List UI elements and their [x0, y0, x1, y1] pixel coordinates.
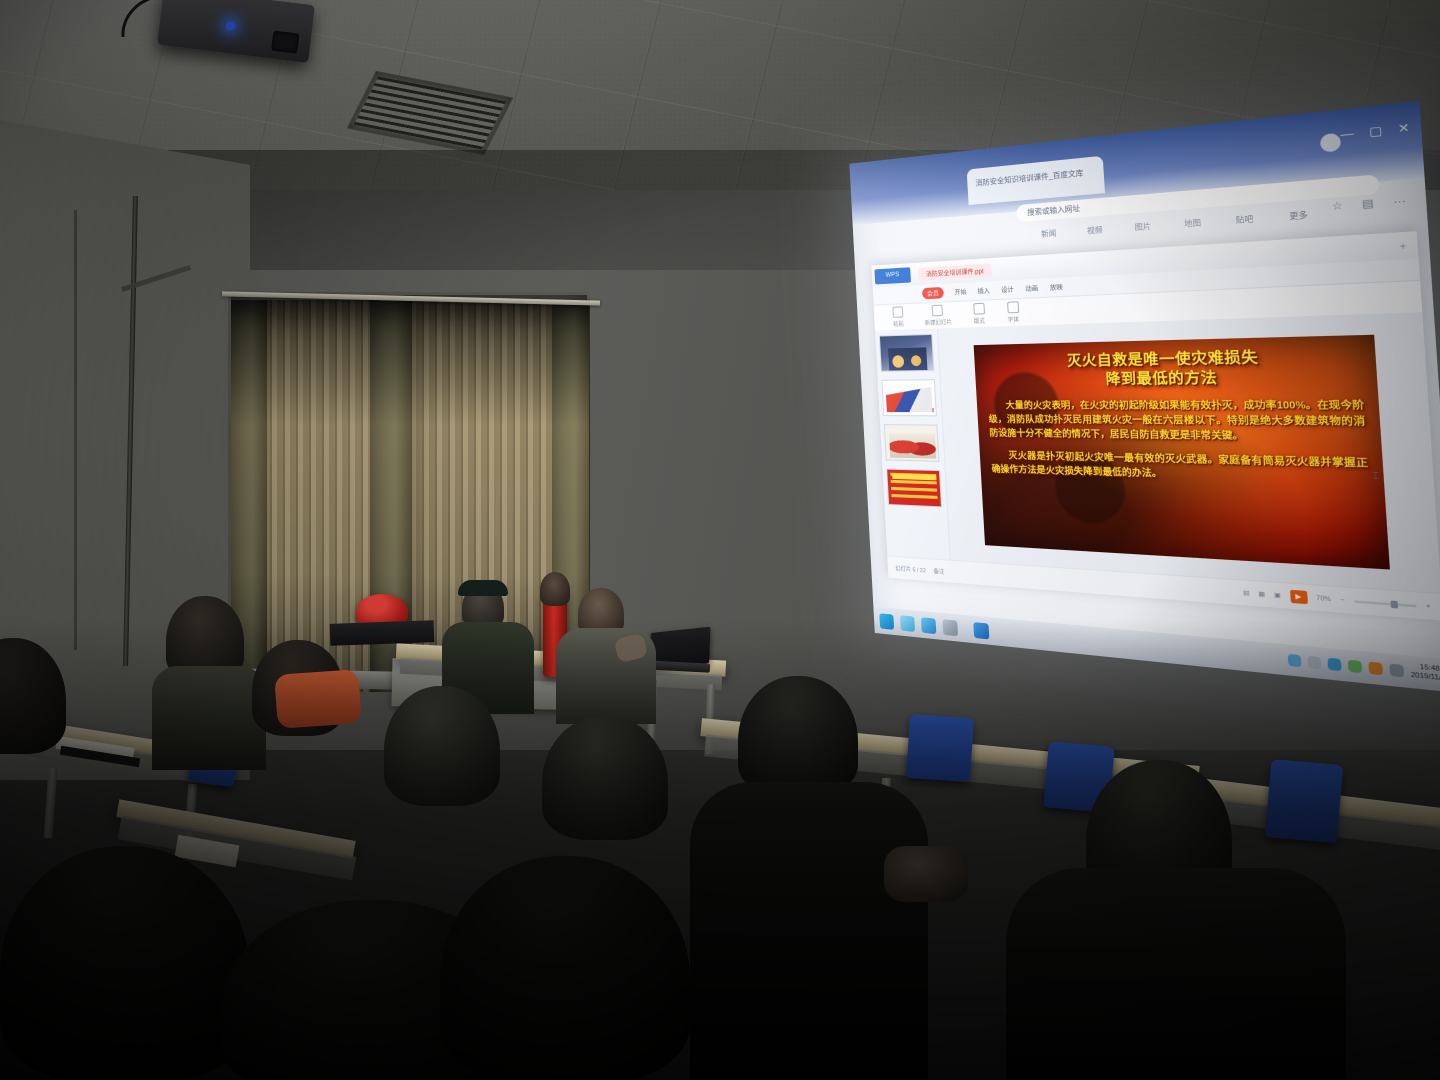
audience-member — [0, 846, 250, 1080]
font-icon — [1007, 301, 1019, 313]
network-icon[interactable] — [1327, 658, 1341, 672]
layout-icon — [973, 303, 985, 315]
nav-link-images[interactable]: 图片 — [1134, 221, 1151, 233]
ribbon-member-badge[interactable]: 会员 — [922, 287, 944, 299]
current-slide[interactable]: 灭火自救是唯一使灾难损失 降到最低的方法 大量的火灾表明，在火灾的初起阶级如果能… — [973, 334, 1390, 570]
nav-link-news[interactable]: 新闻 — [1041, 228, 1057, 240]
zoom-out-button[interactable]: − — [1340, 596, 1345, 604]
browser-tab[interactable]: 消防安全知识培训课件_百度文库 — [967, 156, 1105, 205]
audience-member — [440, 856, 690, 1080]
notes-button[interactable]: 备注 — [933, 566, 944, 575]
attendee-head — [540, 572, 570, 606]
wps-logo-icon: WPS — [874, 267, 911, 284]
browser-icon[interactable] — [879, 613, 894, 630]
tool-layout-label: 版式 — [974, 316, 986, 325]
notification-icon[interactable] — [1389, 664, 1404, 678]
volume-icon[interactable] — [1347, 660, 1362, 674]
front-dark-table — [330, 620, 435, 646]
tool-new-slide[interactable]: 新建幻灯片 — [924, 304, 952, 327]
slide-thumbnail[interactable]: 2 — [881, 379, 936, 416]
audience-member — [384, 686, 500, 806]
officer-cap — [458, 580, 508, 596]
new-slide-icon — [932, 305, 943, 317]
tool-layout[interactable]: 版式 — [973, 303, 985, 325]
shield-icon[interactable] — [1307, 656, 1321, 669]
view-reading-icon[interactable]: ▣ — [1274, 592, 1281, 600]
ime-icon[interactable] — [1368, 662, 1383, 676]
paste-icon — [892, 306, 903, 318]
audience-body — [152, 666, 266, 770]
wps-document-tab[interactable]: 消防安全培训课件.ppt — [918, 263, 992, 281]
slide-stage: 灭火自救是唯一使灾难损失 降到最低的方法 大量的火灾表明，在火灾的初起阶级如果能… — [938, 313, 1440, 592]
onedrive-icon[interactable] — [1288, 654, 1302, 667]
star-icon[interactable]: ☆ — [1331, 199, 1343, 213]
chair — [1265, 759, 1344, 843]
window-controls[interactable]: — ▢ ✕ — [1340, 122, 1410, 142]
projector-power-led-icon — [225, 21, 235, 31]
maximize-icon[interactable]: ▢ — [1369, 125, 1383, 140]
projected-desktop: 消防安全知识培训课件_百度文库 — ▢ ✕ 搜索或输入网址 新闻 视频 图片 地… — [849, 101, 1440, 693]
wall-seam — [74, 210, 77, 650]
slide-thumbnail[interactable]: 4 — [886, 469, 942, 508]
view-normal-icon[interactable]: ▤ — [1243, 589, 1250, 597]
nav-link-video[interactable]: 视频 — [1087, 224, 1103, 236]
nav-link-more[interactable]: 更多 — [1289, 209, 1308, 222]
nav-link-map[interactable]: 地图 — [1184, 217, 1202, 230]
minimize-icon[interactable]: — — [1340, 128, 1355, 143]
audience-member — [542, 716, 668, 840]
slide-counter: 幻灯片 5 / 22 — [895, 564, 926, 574]
media-icon[interactable] — [942, 619, 958, 636]
projection-screen: 消防安全知识培训课件_百度文库 — ▢ ✕ 搜索或输入网址 新闻 视频 图片 地… — [849, 101, 1440, 693]
slide-thumbnail[interactable]: 3 — [884, 424, 940, 462]
zoom-slider[interactable] — [1354, 600, 1416, 607]
tool-paste[interactable]: 粘贴 — [892, 306, 904, 328]
qq-icon[interactable] — [921, 617, 936, 634]
ribbon-tab-start[interactable]: 开始 — [954, 287, 967, 297]
slide-thumbnail[interactable]: 1 — [879, 334, 934, 372]
wps-office-window: WPS 消防安全培训课件.ppt + 会员 开始 插入 设计 动画 放映 粘贴 — [871, 231, 1440, 621]
ribbon-tab-insert[interactable]: 插入 — [977, 286, 990, 296]
ribbon-tab-animation[interactable]: 动画 — [1025, 283, 1038, 293]
wps-icon[interactable] — [973, 622, 989, 639]
clock-date: 2019/11/25 — [1411, 672, 1440, 685]
tool-new-slide-label: 新建幻灯片 — [925, 318, 952, 327]
explorer-icon[interactable] — [900, 615, 915, 632]
taskbar-clock[interactable]: 15:48 2019/11/25 — [1410, 663, 1440, 684]
audience-member — [738, 676, 858, 796]
start-slideshow-button[interactable]: ▶ — [1289, 590, 1307, 604]
browser-toolbar-icons[interactable]: ☆ ▤ ⋯ — [1331, 194, 1406, 213]
classroom-photo-scene: 消防安全知识培训课件_百度文库 — ▢ ✕ 搜索或输入网址 新闻 视频 图片 地… — [0, 0, 1440, 1080]
slide-paragraph-2: 灭火器是扑灭初起火灾唯一最有效的灭火武器。家庭备有简易灭火器并掌握正确操作方法是… — [990, 448, 1369, 487]
audience-body — [690, 782, 928, 1080]
slide-paragraph-1: 大量的火灾表明，在火灾的初起阶级如果能有效扑灭，成功率100%。在现今阶级，消防… — [988, 398, 1367, 446]
audience-body — [1006, 868, 1346, 1080]
tool-font-label: 字体 — [1007, 315, 1019, 324]
wps-new-tab-button[interactable]: + — [1399, 240, 1406, 252]
collections-icon[interactable]: ▤ — [1362, 197, 1375, 211]
status-right-group[interactable]: ▤ ▦ ▣ ▶ 70% − + — [1243, 586, 1432, 613]
settings-icon[interactable]: ⋯ — [1393, 194, 1407, 209]
chair — [906, 714, 974, 782]
projector-lens-icon — [271, 31, 299, 54]
tool-paste-label: 粘贴 — [893, 320, 904, 328]
audience-hands — [884, 846, 968, 902]
slide-title: 灭火自救是唯一使灾难损失 降到最低的方法 — [985, 344, 1363, 389]
view-sorter-icon[interactable]: ▦ — [1258, 590, 1265, 598]
ribbon-tab-design[interactable]: 设计 — [1001, 284, 1014, 294]
browser-profile-icon[interactable] — [1320, 133, 1341, 153]
zoom-level-label: 70% — [1316, 595, 1331, 603]
zoom-in-button[interactable]: + — [1426, 602, 1431, 610]
slide-body: 大量的火灾表明，在火灾的初起阶级如果能有效扑灭，成功率100%。在现今阶级，消防… — [988, 398, 1371, 495]
audience-orange-jacket — [274, 669, 362, 729]
close-icon[interactable]: ✕ — [1397, 122, 1410, 137]
nav-link-tieba[interactable]: 贴吧 — [1235, 213, 1253, 226]
browser-tab-title: 消防安全知识培训课件_百度文库 — [975, 167, 1095, 189]
address-bar-placeholder: 搜索或输入网址 — [1027, 203, 1081, 218]
tool-font[interactable]: 字体 — [1007, 301, 1020, 324]
ribbon-tab-slideshow[interactable]: 放映 — [1050, 282, 1064, 292]
